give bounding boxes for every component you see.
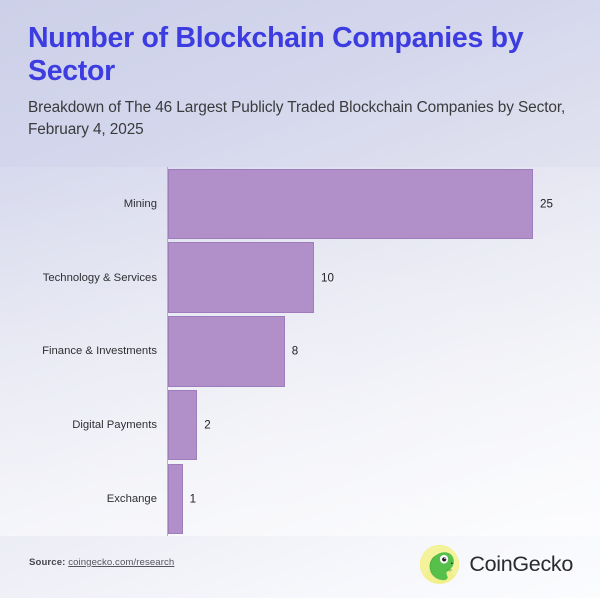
category-label: Finance & Investments	[0, 345, 157, 357]
chart-plot-area: Mining25Technology & Services10Finance &…	[0, 167, 600, 536]
bar-value-label: 25	[540, 197, 553, 210]
bar-track: 25	[168, 167, 600, 241]
bar[interactable]	[168, 390, 197, 461]
coingecko-gecko-icon	[419, 544, 460, 585]
chart-title: Number of Blockchain Companies by Sector	[28, 22, 588, 88]
bar-value-label: 10	[321, 271, 334, 284]
bar[interactable]	[168, 316, 285, 387]
coingecko-brand[interactable]: CoinGecko	[419, 544, 573, 585]
bar-row-container: Mining25Technology & Services10Finance &…	[0, 167, 600, 536]
category-label: Technology & Services	[0, 272, 157, 284]
bar-row: Technology & Services10	[0, 241, 600, 315]
source-label: Source:	[29, 557, 65, 568]
bar[interactable]	[168, 464, 183, 535]
bar-row: Mining25	[0, 167, 600, 241]
bar-value-label: 2	[204, 419, 210, 432]
coingecko-wordmark: CoinGecko	[469, 552, 573, 577]
bar-value-label: 1	[190, 493, 196, 506]
category-label: Exchange	[0, 493, 157, 505]
chart-subtitle: Breakdown of The 46 Largest Publicly Tra…	[28, 97, 588, 141]
bar-row: Exchange1	[0, 462, 600, 536]
bar-value-label: 8	[292, 345, 298, 358]
bar-track: 10	[168, 241, 600, 315]
bar-track: 2	[168, 388, 600, 462]
bar[interactable]	[168, 242, 314, 313]
bar[interactable]	[168, 169, 533, 240]
category-label: Mining	[0, 198, 157, 210]
source-attribution: Source: coingecko.com/research	[29, 557, 174, 568]
chart-footer: Source: coingecko.com/research CoinGecko	[0, 536, 600, 598]
infographic-canvas: Number of Blockchain Companies by Sector…	[0, 0, 600, 598]
bar-track: 8	[168, 315, 600, 389]
bar-row: Digital Payments2	[0, 388, 600, 462]
source-link[interactable]: coingecko.com/research	[68, 557, 174, 568]
chart-header: Number of Blockchain Companies by Sector…	[28, 22, 588, 141]
bar-row: Finance & Investments8	[0, 315, 600, 389]
bar-track: 1	[168, 462, 600, 536]
category-label: Digital Payments	[0, 419, 157, 431]
